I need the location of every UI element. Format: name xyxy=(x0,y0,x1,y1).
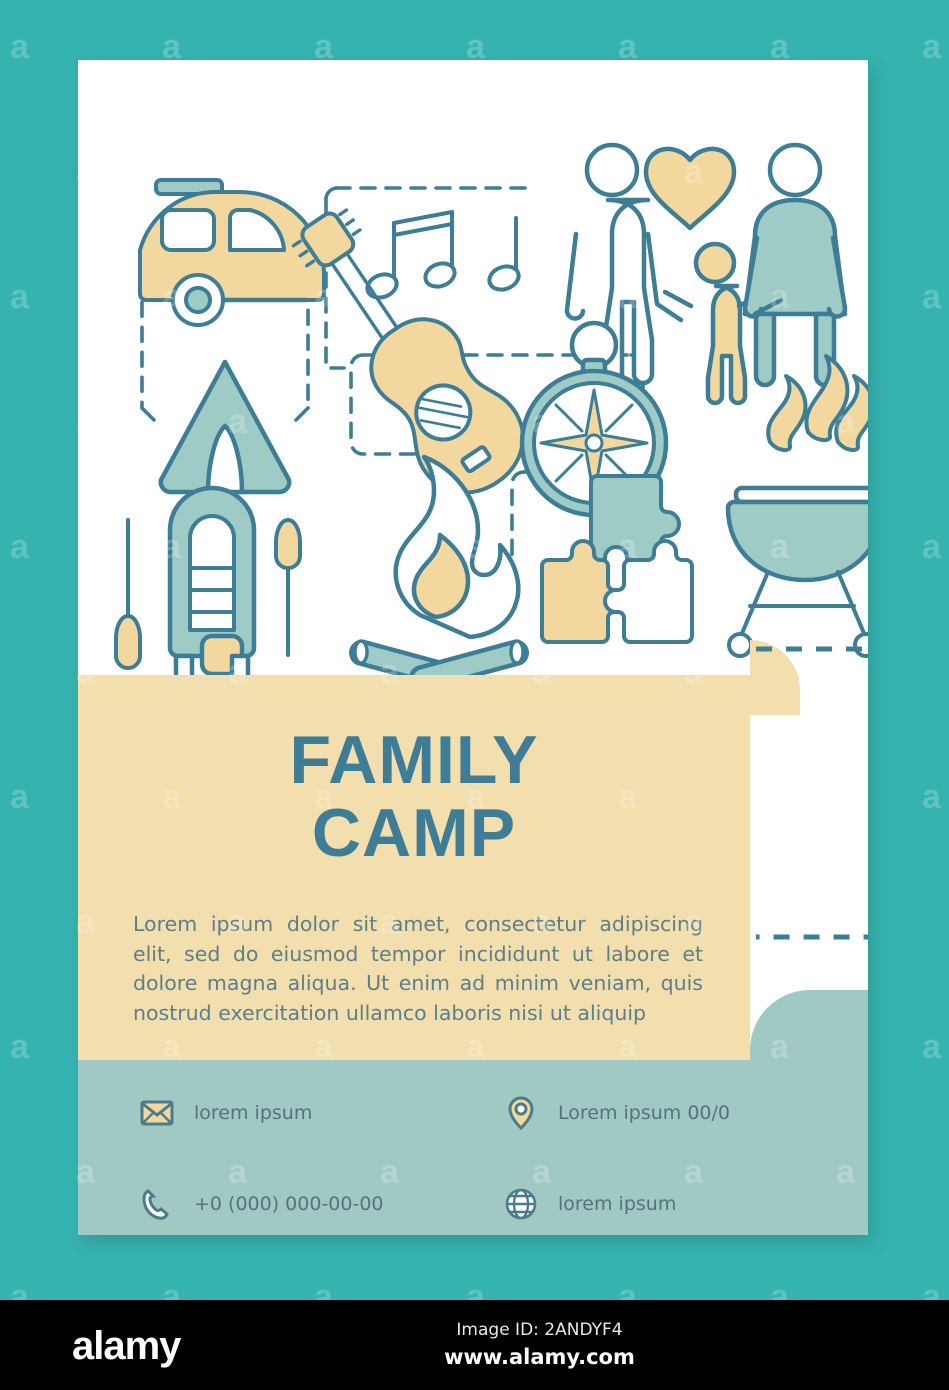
watermark-glyph: a xyxy=(618,30,637,64)
contact-phone-text: +0 (000) 000-00-00 xyxy=(194,1193,384,1215)
watermark-glyph: a xyxy=(922,780,941,814)
watermark-glyph: a xyxy=(314,30,333,64)
contact-email-text: lorem ipsum xyxy=(194,1102,312,1124)
watermark-glyph: a xyxy=(10,780,29,814)
contact-item-website[interactable]: lorem ipsum xyxy=(504,1169,868,1235)
footer-corner-accent xyxy=(750,990,868,1062)
watermark-glyph: a xyxy=(466,30,485,64)
phone-icon xyxy=(140,1187,174,1221)
page-title: FAMILY CAMP xyxy=(78,727,750,866)
image-id-text: Image ID: 2ANDYF4 xyxy=(0,1320,949,1340)
watermark-glyph: a xyxy=(10,530,29,564)
watermark-glyph: a xyxy=(10,280,29,314)
contact-item-phone[interactable]: +0 (000) 000-00-00 xyxy=(140,1169,504,1235)
watermark-glyph: a xyxy=(770,30,789,64)
watermark-glyph: a xyxy=(922,280,941,314)
content-panel: FAMILY CAMP Lorem ipsum dolor sit amet, … xyxy=(78,675,750,1115)
envelope-icon xyxy=(140,1096,174,1130)
contact-website-text: lorem ipsum xyxy=(558,1193,676,1215)
location-pin-icon xyxy=(504,1096,538,1130)
watermark-glyph: a xyxy=(162,30,181,64)
contact-item-email[interactable]: lorem ipsum xyxy=(140,1078,504,1147)
globe-icon xyxy=(504,1187,538,1221)
poster-card: FAMILY CAMP Lorem ipsum dolor sit amet, … xyxy=(78,60,868,1235)
title-line-1: FAMILY xyxy=(78,727,750,794)
body-paragraph: Lorem ipsum dolor sit amet, consectetur … xyxy=(133,910,703,1029)
watermark-glyph: a xyxy=(10,1030,29,1064)
watermark-glyph: a xyxy=(10,30,29,64)
watermark-glyph: a xyxy=(922,530,941,564)
watermark-glyph: a xyxy=(922,1030,941,1064)
watermark-glyph: a xyxy=(922,30,941,64)
title-line-2: CAMP xyxy=(78,800,750,867)
contact-address-text: Lorem ipsum 00/0 xyxy=(558,1102,730,1124)
alamy-bottom-bar: alamy Image ID: 2ANDYF4 www.alamy.com xyxy=(0,1300,949,1390)
illustration-area xyxy=(78,60,868,675)
contact-list: lorem ipsum Lorem ipsum 00/0 +0 (000) 00… xyxy=(78,1078,868,1235)
contact-item-address[interactable]: Lorem ipsum 00/0 xyxy=(504,1078,868,1147)
dashed-decoration xyxy=(738,635,868,965)
alamy-url-text: www.alamy.com xyxy=(0,1345,949,1369)
